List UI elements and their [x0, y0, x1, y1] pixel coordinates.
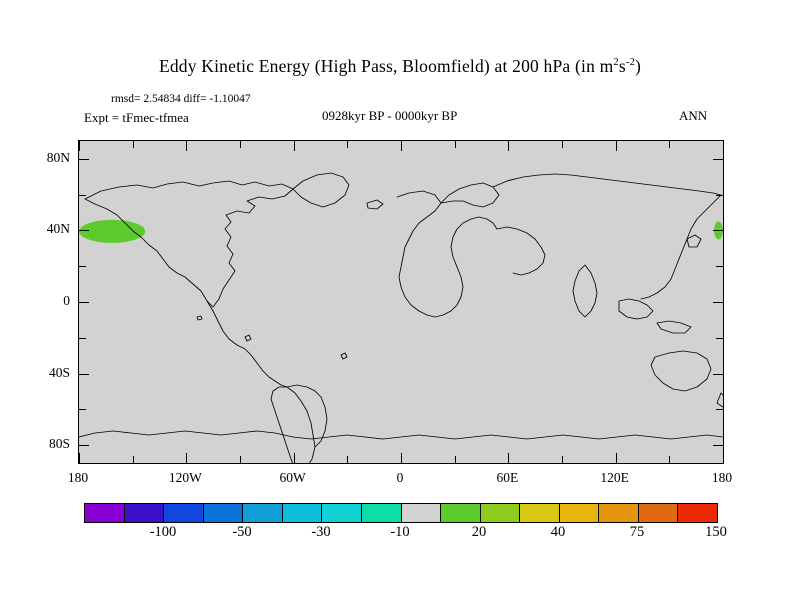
y-axis-tick-minor-right: [716, 195, 723, 196]
title-text-close: ): [635, 56, 641, 76]
x-axis-label: 120W: [169, 470, 202, 486]
x-axis-tick-major: [294, 453, 295, 463]
x-axis-tick-major-top: [401, 141, 402, 151]
colorbar-segment-13: [599, 504, 639, 522]
y-axis-label: 80N: [30, 150, 70, 166]
x-axis-label: 120E: [600, 470, 629, 486]
x-axis-label: 180: [712, 470, 732, 486]
y-axis-tick-minor: [79, 195, 86, 196]
statistics-label: rmsd= 2.54834 diff= -1.10047: [111, 93, 251, 105]
x-axis-tick-minor: [133, 456, 134, 463]
x-axis-tick-major-top: [79, 141, 80, 151]
colorbar-segment-12: [560, 504, 600, 522]
colorbar-segment-15: [678, 504, 717, 522]
y-axis-tick-minor: [79, 266, 86, 267]
x-axis-tick-major: [508, 453, 509, 463]
x-axis-tick-major-top: [294, 141, 295, 151]
colorbar-segment-5: [283, 504, 323, 522]
colorbar-tick-label: -100: [150, 524, 177, 541]
period-label: 0928kyr BP - 0000kyr BP: [322, 108, 457, 124]
experiment-label: Expt = tFmec-tfmea: [84, 110, 189, 126]
y-axis-tick-major-right: [713, 445, 723, 446]
title-exponent-2: -2: [626, 57, 635, 68]
x-axis-tick-minor: [240, 456, 241, 463]
x-axis-tick-minor-top: [669, 141, 670, 148]
colorbar-segment-0: [85, 504, 125, 522]
title-text-main: Eddy Kinetic Energy (High Pass, Bloomfie…: [159, 56, 613, 76]
season-label: ANN: [679, 108, 707, 124]
colorbar-tick-label: 20: [472, 524, 487, 541]
world-map-svg: [79, 141, 723, 463]
y-axis-tick-major-right: [713, 374, 723, 375]
y-axis-tick-major-right: [713, 302, 723, 303]
coastline-layer: [79, 173, 723, 463]
colorbar-segment-9: [441, 504, 481, 522]
x-axis-tick-minor-top: [562, 141, 563, 148]
y-axis-tick-major: [79, 374, 89, 375]
x-axis-tick-major: [401, 453, 402, 463]
climate-anomaly-map-figure: Eddy Kinetic Energy (High Pass, Bloomfie…: [0, 0, 800, 600]
anomaly-patch-layer: [79, 220, 723, 243]
y-axis-label: 80S: [30, 436, 70, 452]
x-axis-tick-minor: [669, 456, 670, 463]
x-axis-tick-major: [723, 453, 724, 463]
colorbar-segment-2: [164, 504, 204, 522]
x-axis-tick-minor-top: [347, 141, 348, 148]
x-axis-tick-major: [186, 453, 187, 463]
x-axis-tick-minor: [347, 456, 348, 463]
colorbar-segment-3: [204, 504, 244, 522]
y-axis-tick-major: [79, 230, 89, 231]
colorbar-tick-label: -50: [232, 524, 251, 541]
title-text-mid: s: [619, 56, 626, 76]
x-axis-tick-major-top: [616, 141, 617, 151]
y-axis-label: 0: [30, 293, 70, 309]
y-axis-tick-minor-right: [716, 338, 723, 339]
colorbar-segment-4: [243, 504, 283, 522]
x-axis-tick-minor-top: [455, 141, 456, 148]
x-axis-tick-major-top: [508, 141, 509, 151]
colorbar-segment-8: [402, 504, 442, 522]
x-axis-label: 0: [397, 470, 404, 486]
x-axis-label: 60E: [496, 470, 518, 486]
y-axis-tick-major-right: [713, 159, 723, 160]
colorbar-segment-1: [125, 504, 165, 522]
x-axis-tick-major-top: [186, 141, 187, 151]
colorbar-segment-14: [639, 504, 679, 522]
y-axis-tick-minor: [79, 409, 86, 410]
x-axis-tick-major: [79, 453, 80, 463]
colorbar-segment-10: [481, 504, 521, 522]
colorbar-tick-label: 40: [551, 524, 566, 541]
x-axis-tick-minor-top: [133, 141, 134, 148]
colorbar-segment-6: [322, 504, 362, 522]
x-axis-tick-minor-top: [240, 141, 241, 148]
colorbar-segment-7: [362, 504, 402, 522]
colorbar: [84, 503, 718, 523]
y-axis-tick-minor: [79, 338, 86, 339]
x-axis-label: 60W: [280, 470, 306, 486]
y-axis-tick-major-right: [713, 230, 723, 231]
y-axis-label: 40N: [30, 221, 70, 237]
y-axis-label: 40S: [30, 365, 70, 381]
y-axis-tick-major: [79, 159, 89, 160]
x-axis-tick-minor: [455, 456, 456, 463]
x-axis-label: 180: [68, 470, 88, 486]
colorbar-tick-label: 150: [705, 524, 727, 541]
y-axis-tick-major: [79, 302, 89, 303]
colorbar-tick-label: 75: [630, 524, 645, 541]
y-axis-tick-minor-right: [716, 409, 723, 410]
colorbar-segment-11: [520, 504, 560, 522]
x-axis-tick-minor: [562, 456, 563, 463]
y-axis-tick-minor-right: [716, 266, 723, 267]
x-axis-tick-major: [616, 453, 617, 463]
map-plot-area: [78, 140, 724, 464]
x-axis-tick-major-top: [723, 141, 724, 151]
colorbar-tick-label: -30: [311, 524, 330, 541]
colorbar-tick-label: -10: [390, 524, 409, 541]
page-title: Eddy Kinetic Energy (High Pass, Bloomfie…: [0, 56, 800, 77]
y-axis-tick-major: [79, 445, 89, 446]
